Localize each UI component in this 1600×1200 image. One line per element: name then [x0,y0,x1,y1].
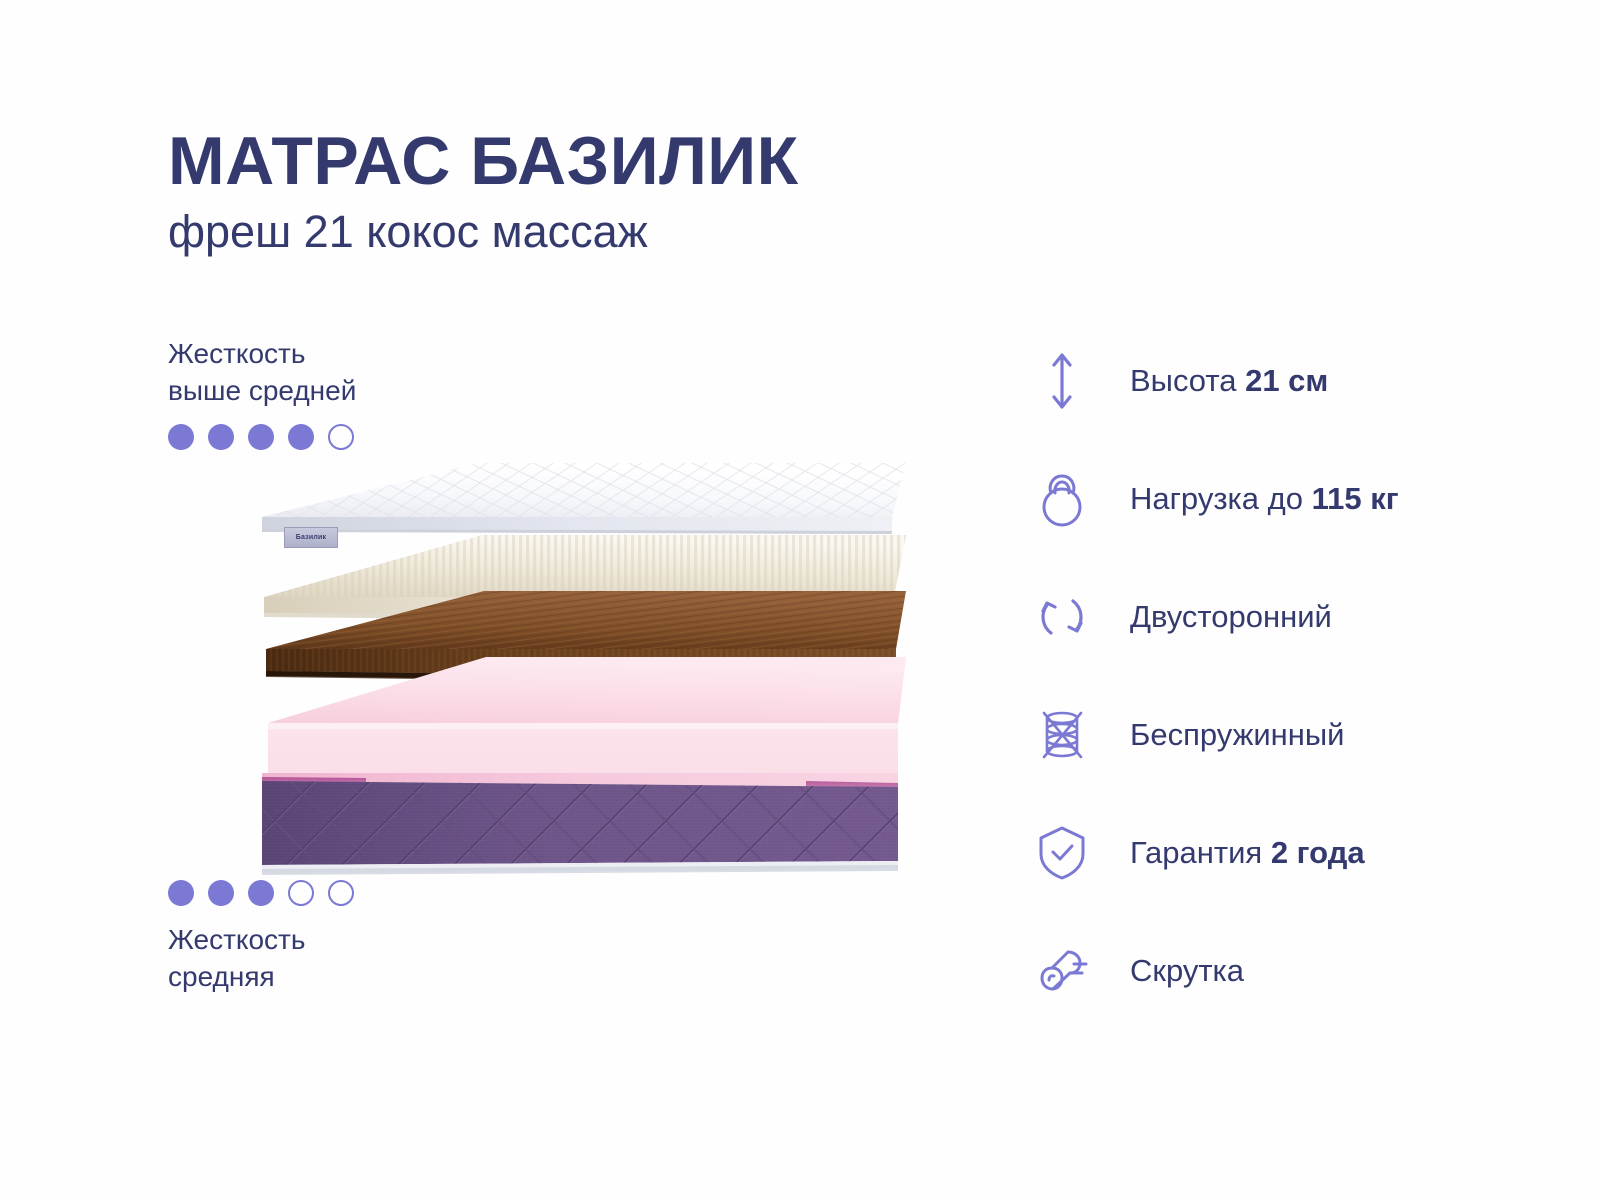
firmness-dot-empty [328,424,354,450]
height-arrow-icon [1030,349,1094,413]
feature-load-text: Нагрузка до 115 кг [1130,481,1399,517]
feature-warranty-prefix: Гарантия [1130,835,1271,870]
feature-height-value: 21 см [1245,363,1328,398]
firmness-dot-filled [248,880,274,906]
firmness-bottom-block: Жесткость средняя [168,880,354,996]
firmness-top-label: Жесткость выше средней [168,336,356,410]
feature-height-text: Высота 21 см [1130,363,1328,399]
firmness-top-dots [168,424,356,450]
firmness-top-block: Жесткость выше средней [168,336,356,450]
feature-springless: Беспружинный [1030,676,1399,794]
feature-warranty-value: 2 года [1271,835,1365,870]
firmness-dot-filled [168,880,194,906]
page-title: матрас БАЗИЛИК фреш 21 кокос массаж [168,128,799,254]
feature-load: Нагрузка до 115 кг [1030,440,1399,558]
feature-rollup-text: Скрутка [1130,953,1244,989]
shield-check-icon [1030,821,1094,885]
kettlebell-icon [1030,467,1094,531]
product-title: матрас БАЗИЛИК [168,128,799,195]
feature-rollup: Скрутка [1030,912,1399,1030]
mattress-layers-illustration: Базилик [246,455,906,875]
rotate-arrows-icon [1030,585,1094,649]
feature-warranty-text: Гарантия 2 года [1130,835,1365,871]
feature-height: Высота 21 см [1030,322,1399,440]
firmness-bottom-dots [168,880,354,906]
feature-springless-text: Беспружинный [1130,717,1345,753]
rolled-mattress-icon [1030,939,1094,1003]
feature-two-sided: Двусторонний [1030,558,1399,676]
feature-load-prefix: Нагрузка до [1130,481,1312,516]
product-subtitle: фреш 21 кокос массаж [168,209,799,254]
feature-list: Высота 21 см Нагрузка до 115 кг [1030,322,1399,1030]
firmness-dot-empty [328,880,354,906]
feature-height-prefix: Высота [1130,363,1245,398]
firmness-bottom-label: Жесткость средняя [168,922,354,996]
firmness-dot-filled [208,424,234,450]
feature-load-value: 115 кг [1312,481,1399,516]
firmness-dot-filled [248,424,274,450]
feature-two-sided-text: Двусторонний [1130,599,1332,635]
no-spring-icon [1030,703,1094,767]
quilted-base-layer [246,765,906,880]
feature-warranty: Гарантия 2 года [1030,794,1399,912]
infographic-page: матрас БАЗИЛИК фреш 21 кокос массаж Жест… [0,0,1600,1200]
firmness-dot-filled [168,424,194,450]
firmness-dot-empty [288,880,314,906]
firmness-dot-filled [288,424,314,450]
firmness-dot-filled [208,880,234,906]
